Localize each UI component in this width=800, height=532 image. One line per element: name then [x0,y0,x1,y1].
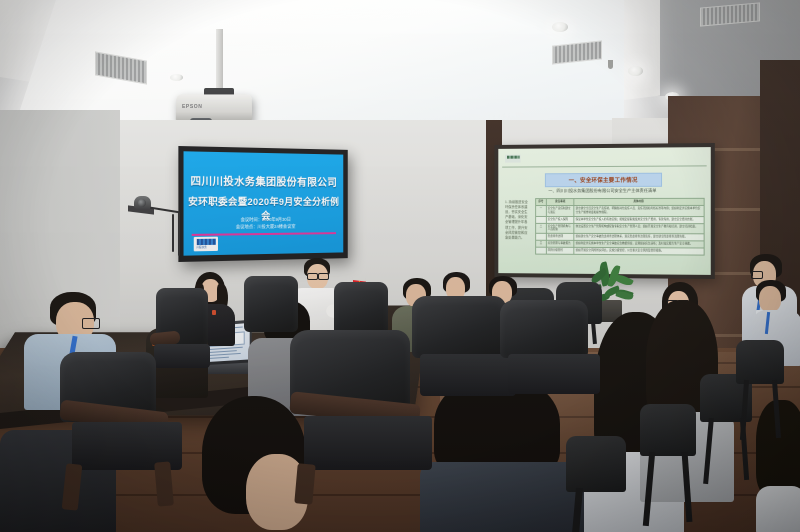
slide-table-header-row: 序号责任事项具体内容 [535,198,704,205]
slide-table-row: 风险分级管控组织开展安全风险辨识评估，实施分级管控，公告重大安全风险及管控措施。 [535,247,704,256]
downlight-icon [170,74,183,81]
tv-title-line1: 四川川投水务集团股份有限公司 [184,173,344,189]
slide-table-cell [536,248,547,254]
slide-table-cell: 应急管理与事故报告 [547,241,575,247]
slide-table-header-cell: 序号 [536,199,547,205]
wall-mounted-tv[interactable]: 四川川投水务集团股份有限公司 安环职委会暨2020年9月安全分析例会 会议时间：… [178,146,347,262]
projector-mount-pole [216,29,223,91]
chair[interactable] [640,404,698,530]
slide-table-cell: 安全生产投入保障 [547,217,575,223]
slide-table-cell: 组织开展安全风险辨识评估，实施分级管控，公告重大安全风险及管控措施。 [575,248,705,255]
projection-screen-surface: 一、安全环保主要工作情况 一、四川川投水务集团股份有限公司安全生产主体责任清单 … [498,147,710,275]
slide-side-note: 1. 持续推进安全环保责任体系建设，夯实安全生产基础，深化安全管理提升年各项工作… [505,200,530,240]
projector-brand-label: EPSON [182,104,203,110]
tv-screen: 四川川投水务集团股份有限公司 安环职委会暨2020年9月安全分析例会 会议时间：… [184,151,344,255]
slide-table-row: 三应急管理与事故报告组织制定并实施本单位生产安全事故应急救援预案，定期组织应急演… [535,240,704,248]
cable [172,214,174,252]
chair[interactable] [500,300,604,404]
slide-table-cell: 一 [536,206,547,216]
slide-table-row: 二安全生产管理机构与人员配备依法设置安全生产管理机构或配备专职安全生产管理人员；… [535,222,704,233]
projection-screen[interactable]: 一、安全环保主要工作情况 一、四川川投水务集团股份有限公司安全生产主体责任清单 … [494,143,714,279]
slide-table-cell: 建立健全全员安全生产责任制，明确各岗位责任人员、责任范围和考核标准等内容；组织制… [575,206,705,216]
slide-table-cell: 组织建立生产安全事故隐患排查治理体系，落实隐患排查治理责任，建立健全隐患排查治理… [575,234,705,240]
tv-divider-line [192,232,336,235]
slide-table-cell: 保证本单位安全生产投入的有效实施；按规定提取和使用安全生产费用，专款专用，建立安… [575,217,705,223]
slide-table-header-cell: 具体内容 [575,199,705,205]
cable [178,212,180,256]
slide-rule [502,165,707,167]
slide-table-cell [536,217,547,223]
conference-room-photo: EPSON 四川川投水务集团股份有限公司 安环职委会暨2020年9月安全分析例会… [0,0,800,532]
camera-lens-icon [138,199,146,207]
company-logo: 川投水务 [194,237,218,252]
slide-table-cell: 风险分级管控 [547,248,575,254]
slide-table-cell: 安全生产管理机构与人员配备 [547,223,575,233]
slide-table: 序号责任事项具体内容一安全生产责任制建立与落实建立健全全员安全生产责任制，明确各… [535,198,704,256]
sprinkler-icon [608,60,613,69]
slide-table-row: 安全生产投入保障保证本单位安全生产投入的有效实施；按规定提取和使用安全生产费用，… [535,216,704,223]
slide-subheader: 一、四川川投水务集团股份有限公司安全生产主体责任清单 [537,188,668,194]
slide-table-cell: 依法设置安全生产管理机构或配备专职安全生产管理人员；组织开展安全生产教育和培训，… [575,224,705,234]
slide-header: 一、安全环保主要工作情况 [545,173,662,187]
chair[interactable] [566,436,628,532]
slide-table-cell: 二 [536,223,547,233]
slide-table-cell: 组织制定并实施本单位生产安全事故应急救援预案，定期组织应急演练；及时如实报告生产… [575,241,705,248]
potted-plant-lower [604,282,634,312]
slide-table-row: 一安全生产责任制建立与落实建立健全全员安全生产责任制，明确各岗位责任人员、责任范… [535,205,704,216]
downlight-icon [552,22,568,32]
slide-table-cell: 安全生产责任制建立与落实 [547,206,575,216]
slide-table-cell: 隐患排查治理 [547,234,575,240]
tv-meta-place: 会议地点：川投大厦24楼会议室 [184,223,344,231]
chair-foreground[interactable] [60,352,190,502]
slide-header-text: 一、安全环保主要工作情况 [569,176,638,184]
slide-table-header-cell: 责任事项 [547,199,575,205]
slide-table-cell: 三 [536,241,547,247]
downlight-icon [628,66,643,76]
logo-text: 川投水务 [196,245,215,249]
chair[interactable] [736,340,786,446]
slide-table-row: 隐患排查治理组织建立生产安全事故隐患排查治理体系，落实隐患排查治理责任，建立健全… [535,233,704,241]
slide-logo-icon [505,155,520,163]
slide-table-cell [536,234,547,240]
